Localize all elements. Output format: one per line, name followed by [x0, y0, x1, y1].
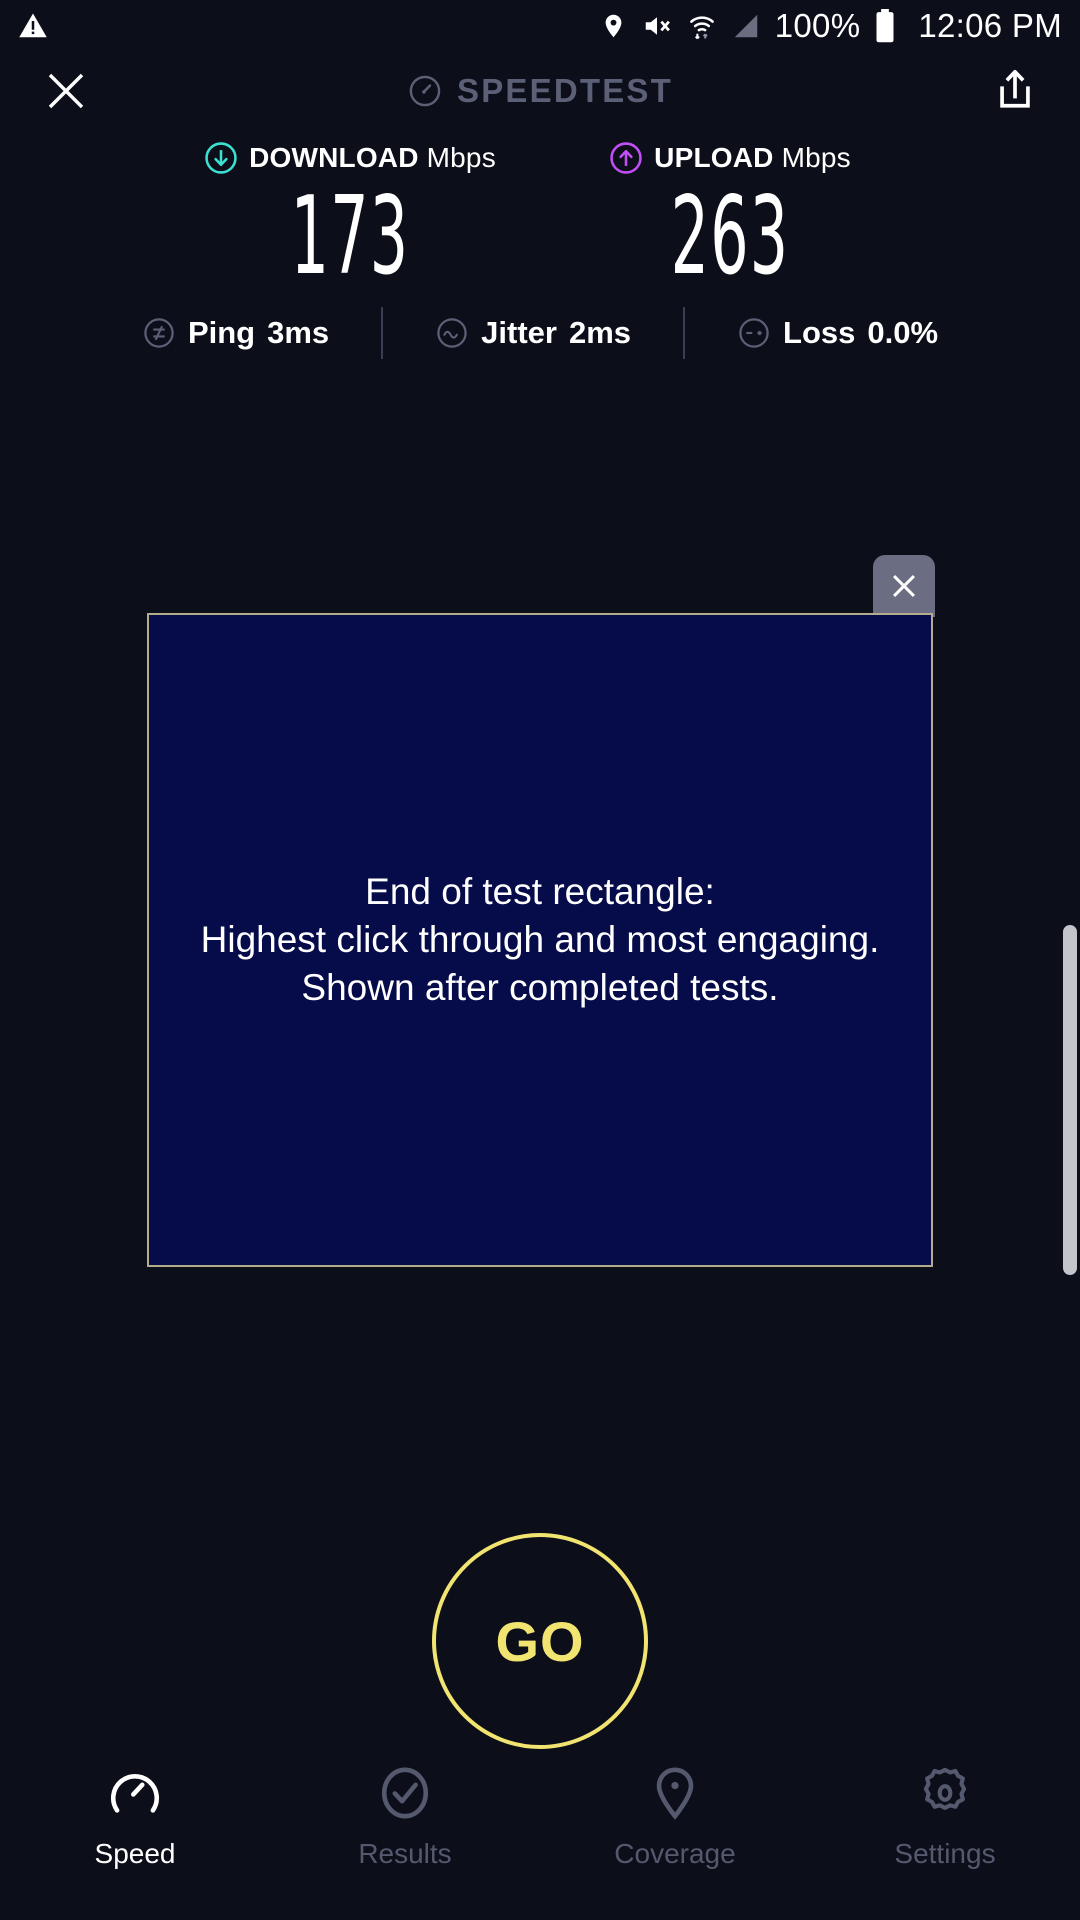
- divider: [381, 307, 383, 359]
- jitter-icon: [435, 316, 469, 350]
- ad-close-icon[interactable]: [873, 555, 935, 617]
- speedometer-icon: [407, 73, 443, 109]
- jitter-metric: Jitter 2ms: [429, 315, 637, 351]
- status-bar: 100% 12:06 PM: [0, 0, 1080, 52]
- brand: SPEEDTEST: [407, 72, 673, 110]
- download-label: DOWNLOAD Mbps: [249, 142, 496, 174]
- location-pin-icon: [600, 11, 627, 41]
- go-button[interactable]: GO: [432, 1533, 648, 1749]
- location-pin-icon: [646, 1764, 704, 1822]
- speed-row: DOWNLOAD Mbps 173 UP: [0, 138, 1080, 289]
- divider: [683, 307, 685, 359]
- ping-icon: [142, 316, 176, 350]
- nav-item-coverage[interactable]: Coverage: [540, 1764, 810, 1870]
- upload-label-text: UPLOAD: [654, 142, 773, 173]
- page-scrollbar[interactable]: [1063, 925, 1077, 1275]
- download-metric: DOWNLOAD Mbps 173: [160, 138, 540, 289]
- app-header: SPEEDTEST: [0, 52, 1080, 130]
- nav-label-settings: Settings: [894, 1838, 995, 1870]
- ping-label: Ping: [188, 315, 255, 351]
- close-icon[interactable]: [42, 67, 90, 115]
- gear-icon: [916, 1764, 974, 1822]
- wifi-icon: [687, 11, 717, 41]
- upload-value: 263: [612, 184, 848, 289]
- battery-full-icon: [874, 9, 896, 43]
- speedtest-app-screen: 100% 12:06 PM S: [0, 0, 1080, 1920]
- advertisement: End of test rectangle: Highest click thr…: [147, 613, 933, 1267]
- arrow-up-circle-icon: [609, 141, 643, 175]
- upload-metric: UPLOAD Mbps 263: [540, 138, 920, 289]
- nav-item-settings[interactable]: Settings: [810, 1764, 1080, 1870]
- loss-metric: Loss 0.0%: [731, 315, 944, 351]
- ad-line-1: End of test rectangle:: [201, 868, 880, 916]
- nav-item-speed[interactable]: Speed: [0, 1764, 270, 1870]
- nav-label-speed: Speed: [95, 1838, 176, 1870]
- download-unit: Mbps: [427, 142, 496, 173]
- cellular-signal-icon: [731, 11, 761, 41]
- download-label-text: DOWNLOAD: [249, 142, 419, 173]
- loss-value: 0.0%: [867, 315, 938, 351]
- ping-value: 3ms: [267, 315, 329, 351]
- upload-header: UPLOAD Mbps: [540, 138, 920, 178]
- clock-label: 12:06 PM: [918, 7, 1062, 45]
- ad-text: End of test rectangle: Highest click thr…: [185, 868, 896, 1012]
- nav-label-coverage: Coverage: [614, 1838, 735, 1870]
- ad-rectangle[interactable]: End of test rectangle: Highest click thr…: [147, 613, 933, 1267]
- arrow-down-circle-icon: [204, 141, 238, 175]
- ping-metric: Ping 3ms: [136, 315, 335, 351]
- battery-percent-label: 100%: [775, 7, 861, 45]
- ping-jitter-loss-row: Ping 3ms Jitter 2ms: [0, 307, 1080, 359]
- jitter-value: 2ms: [569, 315, 631, 351]
- go-button-label: GO: [495, 1609, 584, 1674]
- warning-triangle-icon: [18, 11, 48, 41]
- volume-muted-icon: [641, 11, 673, 41]
- download-value: 173: [232, 184, 468, 289]
- check-circle-icon: [376, 1764, 434, 1822]
- nav-item-results[interactable]: Results: [270, 1764, 540, 1870]
- status-bar-right: 100% 12:06 PM: [600, 7, 1062, 45]
- loss-label: Loss: [783, 315, 855, 351]
- share-icon[interactable]: [992, 67, 1038, 115]
- loss-icon: [737, 316, 771, 350]
- speedometer-icon: [106, 1764, 164, 1822]
- brand-title: SPEEDTEST: [457, 72, 673, 110]
- ad-line-2: Highest click through and most engaging.: [201, 916, 880, 964]
- status-bar-left: [18, 11, 48, 41]
- ad-line-3: Shown after completed tests.: [201, 964, 880, 1012]
- nav-label-results: Results: [358, 1838, 451, 1870]
- download-header: DOWNLOAD Mbps: [160, 138, 540, 178]
- upload-label: UPLOAD Mbps: [654, 142, 851, 174]
- jitter-label: Jitter: [481, 315, 557, 351]
- bottom-navigation: Speed Results Coverage: [0, 1750, 1080, 1920]
- upload-unit: Mbps: [782, 142, 851, 173]
- results-summary: DOWNLOAD Mbps 173 UP: [0, 138, 1080, 359]
